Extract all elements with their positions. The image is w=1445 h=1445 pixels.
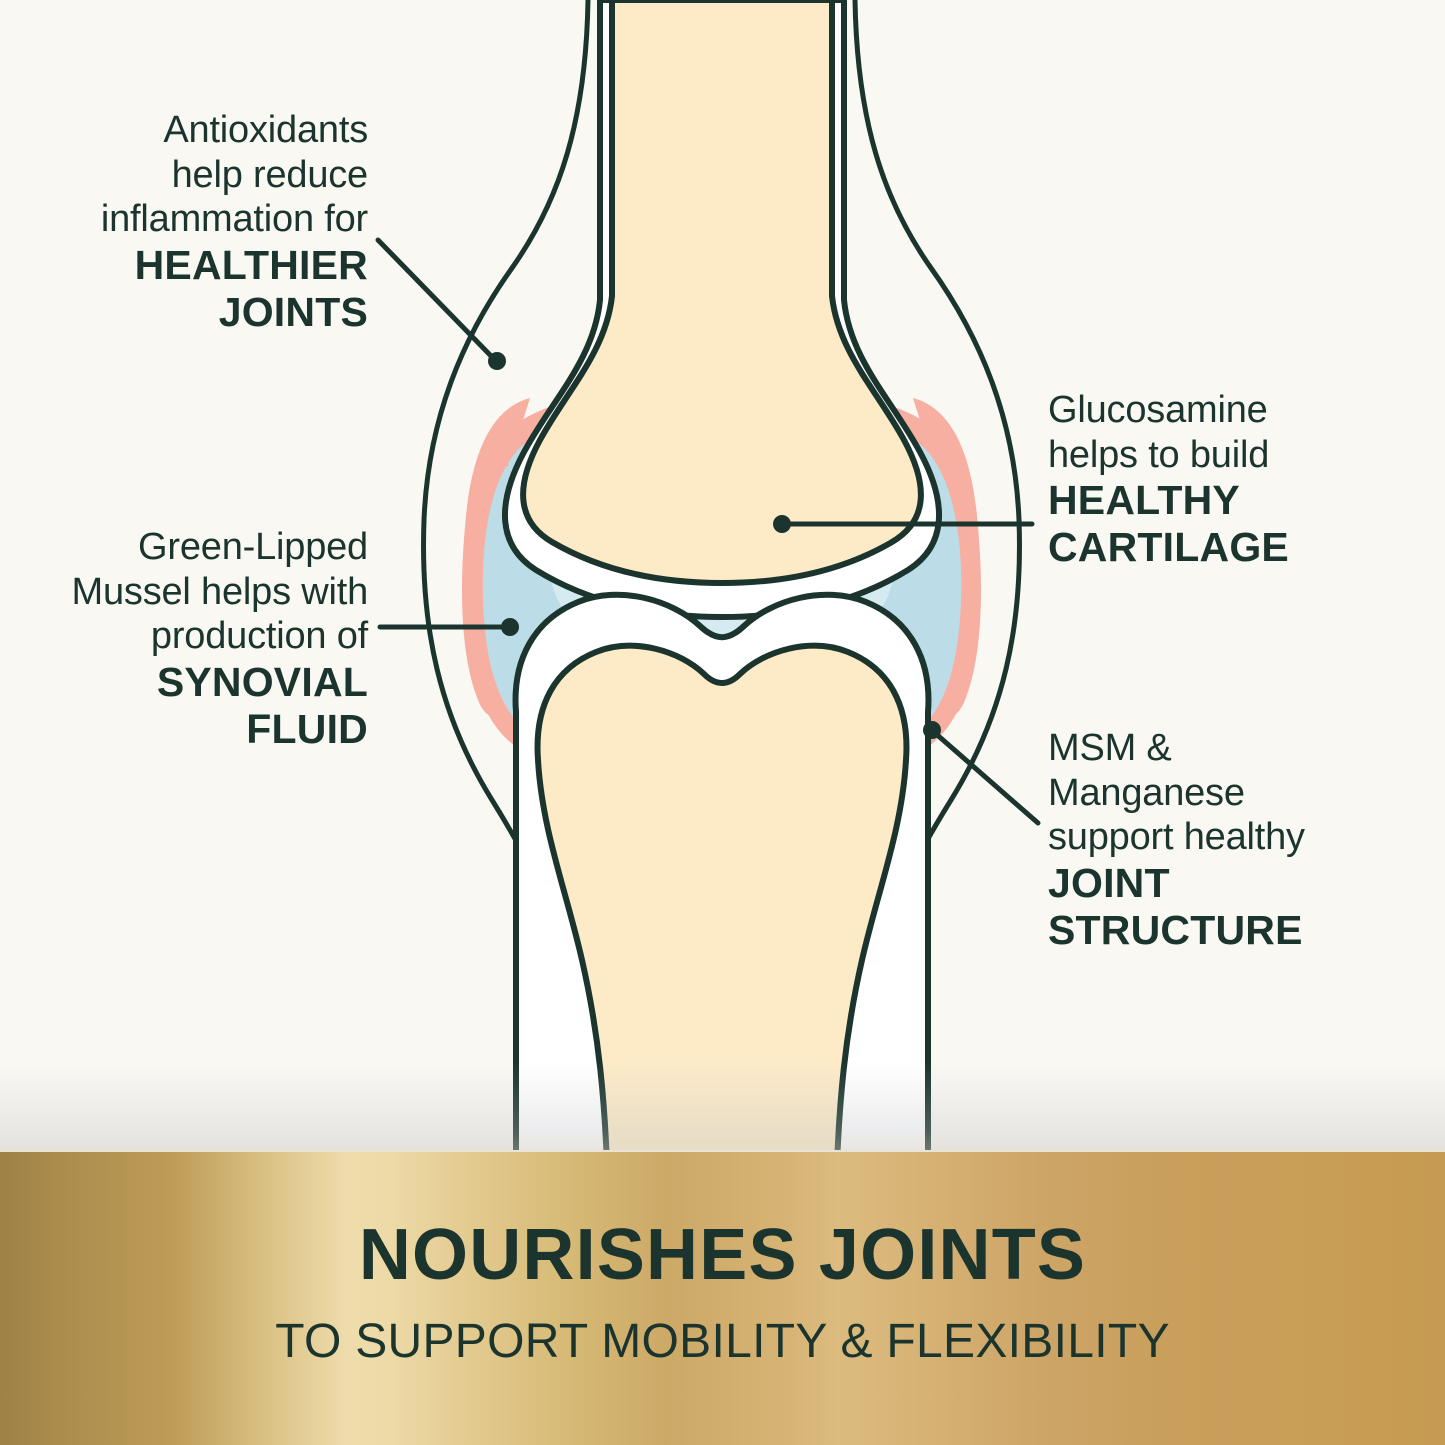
leader-dot-msm [923,721,941,739]
callout-glucosamine-emph-1: HEALTHY [1048,477,1378,524]
callout-glucosamine-lead-1: Glucosamine [1048,388,1378,433]
leader-dot-antioxidants [488,352,506,370]
joint-health-infographic: Antioxidants help reduce inflammation fo… [0,0,1445,1445]
callout-mussel-emph-1: SYNOVIAL [0,659,368,706]
callout-glucosamine-emph-2: CARTILAGE [1048,524,1378,571]
gold-banner: NOURISHES JOINTS TO SUPPORT MOBILITY & F… [0,1152,1445,1445]
callout-glucosamine: Glucosamine helps to build HEALTHY CARTI… [1048,388,1378,572]
callout-msm-manganese: MSM & Manganese support healthy JOINT ST… [1048,726,1388,954]
callout-msm-lead-3: support healthy [1048,815,1388,860]
callout-antioxidants-emph-1: HEALTHIER [20,242,368,289]
callout-glucosamine-lead-2: helps to build [1048,433,1378,478]
callout-antioxidants: Antioxidants help reduce inflammation fo… [20,108,368,336]
callout-msm-emph-1: JOINT [1048,860,1388,907]
leader-line-antioxidants [378,240,494,359]
callout-mussel-emph-2: FLUID [0,706,368,753]
callout-msm-emph-2: STRUCTURE [1048,907,1388,954]
callout-mussel-lead-1: Green-Lipped [0,525,368,570]
callout-antioxidants-lead-3: inflammation for [20,197,368,242]
leader-dot-glucosamine [773,515,791,533]
callout-antioxidants-lead-2: help reduce [20,153,368,198]
callout-green-lipped-mussel: Green-Lipped Mussel helps with productio… [0,525,368,753]
leader-line-msm [935,733,1038,823]
banner-headline: NOURISHES JOINTS [359,1214,1086,1296]
callout-msm-lead-2: Manganese [1048,771,1388,816]
callout-antioxidants-lead-1: Antioxidants [20,108,368,153]
callout-antioxidants-emph-2: JOINTS [20,289,368,336]
callout-mussel-lead-2: Mussel helps with [0,570,368,615]
banner-subline: TO SUPPORT MOBILITY & FLEXIBILITY [275,1314,1170,1369]
callout-msm-lead-1: MSM & [1048,726,1388,771]
leader-dot-mussel [501,618,519,636]
callout-mussel-lead-3: production of [0,614,368,659]
